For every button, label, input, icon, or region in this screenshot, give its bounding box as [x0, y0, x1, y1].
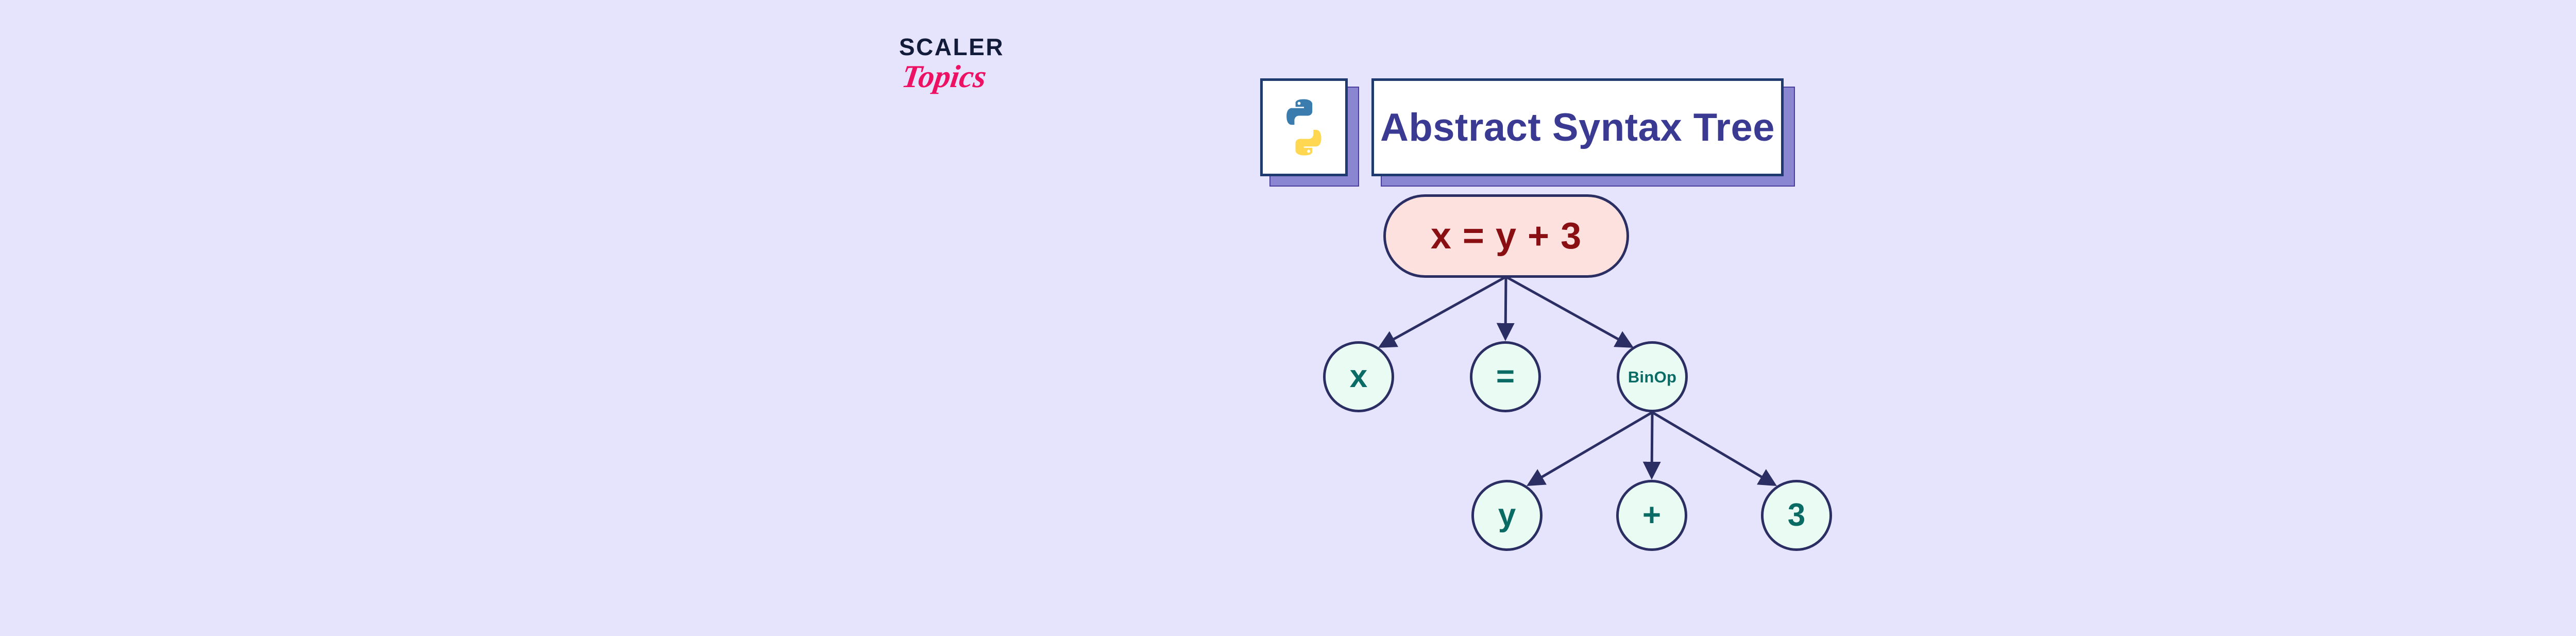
ast-node-binop[interactable]: BinOp: [1617, 341, 1688, 412]
ast-edge: [1652, 412, 1652, 477]
ast-node-label: BinOp: [1628, 369, 1677, 385]
ast-edge: [1505, 277, 1506, 338]
ast-root-label: x = y + 3: [1431, 215, 1582, 257]
ast-node-label: 3: [1788, 499, 1805, 531]
python-logo-icon: [1270, 89, 1337, 166]
ast-node-label: y: [1498, 499, 1516, 531]
diagram-canvas: SCALER Topics Abstract Syntax Tree x = y…: [0, 0, 2576, 636]
ast-edge: [1529, 412, 1652, 484]
ast-edge: [1506, 277, 1631, 346]
ast-node-y[interactable]: y: [1471, 480, 1543, 551]
ast-node-3[interactable]: 3: [1761, 480, 1832, 551]
ast-node-x[interactable]: x: [1323, 341, 1394, 412]
ast-root-node[interactable]: x = y + 3: [1383, 194, 1629, 278]
ast-node-[interactable]: =: [1470, 341, 1541, 412]
ast-node-label: x: [1350, 361, 1367, 393]
ast-edge: [1652, 412, 1774, 484]
ast-node-label: =: [1496, 361, 1515, 393]
ast-node-[interactable]: +: [1616, 480, 1687, 551]
ast-edge: [1381, 277, 1506, 346]
ast-node-label: +: [1642, 499, 1661, 531]
